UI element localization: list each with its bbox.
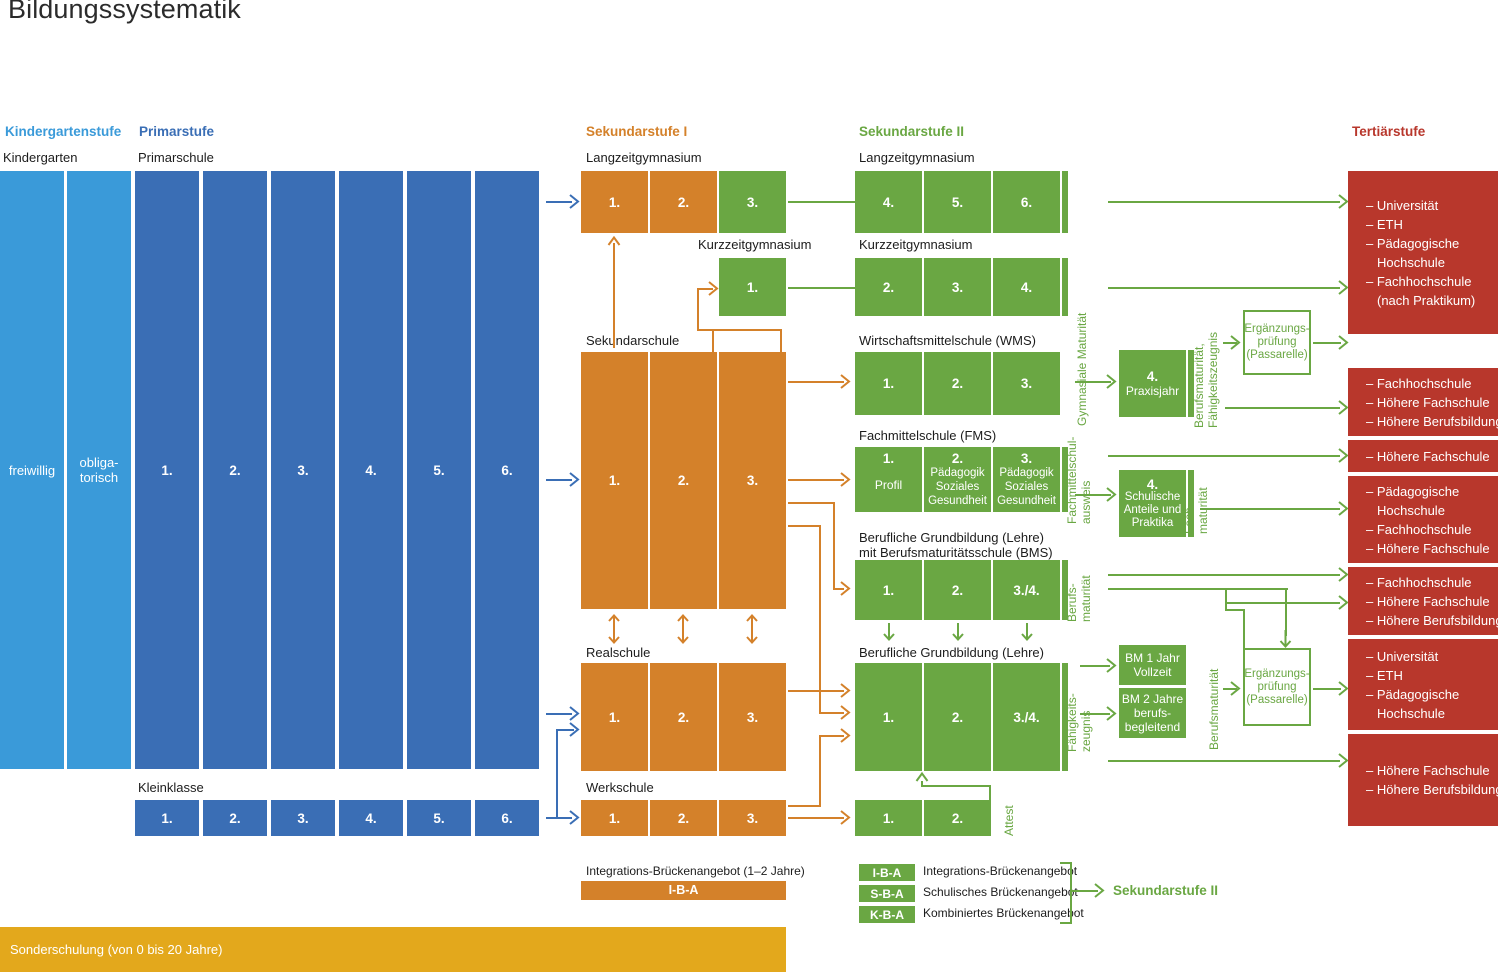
primarschule-caption: Primarschule	[138, 150, 214, 165]
sek2-fms-cell-3[interactable]: 3. Pädagogik Soziales Gesundheit	[993, 447, 1060, 512]
line-gym-to-uni-1	[1108, 201, 1340, 203]
iba-caption: Integrations-Brückenangebot (1–2 Jahre)	[586, 864, 805, 878]
cell-label: 3.	[952, 280, 963, 295]
tertiaer-block-uni-2[interactable]: – Universität – ETH – Pädagogische Hochs…	[1348, 639, 1498, 730]
arrowhead-icon	[915, 772, 929, 786]
primarschule-cell-3[interactable]: 3.	[271, 171, 335, 769]
tertiaer-block-fh-1[interactable]: – Fachhochschule – Höhere Fachschule – H…	[1348, 368, 1498, 436]
arrowhead-icon	[840, 581, 854, 596]
primarschule-cell-label: 6.	[501, 463, 512, 478]
cell-number: 4.	[1147, 478, 1158, 491]
primarschule-cell-label: 3.	[297, 463, 308, 478]
connector-sek-to-bms-h1	[788, 502, 835, 504]
cell-label: 1.	[883, 811, 894, 826]
double-arrow-icon	[676, 614, 690, 644]
sek1-werkschule-caption: Werkschule	[586, 780, 654, 795]
connector-bm-feeder-v	[1243, 610, 1245, 688]
sek2-fms-cell-2[interactable]: 2. Pädagogik Soziales Gesundheit	[924, 447, 991, 512]
tertiaer-item: – Pädagogische	[1366, 482, 1498, 501]
sek2-lehre-caption: Berufliche Grundbildung (Lehre)	[859, 645, 1044, 660]
cell-label: Praktika	[1132, 517, 1174, 530]
kindergarten-cell-label: obliga- torisch	[79, 455, 118, 485]
connector-bms-to-passarelle-v	[1285, 588, 1287, 636]
passarelle-line-3: (Passarelle)	[1244, 349, 1309, 362]
tertiaer-item: – Fachhochschule	[1366, 573, 1498, 592]
double-arrow-icon	[745, 614, 759, 644]
sek2-attest-cell-1[interactable]: 1.	[855, 800, 922, 836]
tertiaer-item: – ETH	[1366, 215, 1498, 234]
kindergarten-cell-obligatorisch[interactable]: obliga- torisch	[67, 171, 131, 769]
legend-chip-label: K-B-A	[870, 908, 904, 922]
sek1-realschule-cell-2[interactable]: 2.	[650, 663, 717, 771]
sek1-sekundarschule-cell-3[interactable]: 3.	[719, 352, 786, 609]
kleinklasse-cell-label: 5.	[433, 811, 444, 826]
sek2-fms-cell-1[interactable]: 1. Profil	[855, 447, 922, 512]
sek1-sekundarschule-caption: Sekundarschule	[586, 333, 679, 348]
cell-label: Gesundheit	[928, 494, 987, 508]
vlabel-berufsmaturitaet-a: Berufs- maturität	[1065, 575, 1093, 622]
arrowhead-icon	[1106, 706, 1120, 721]
tertiaer-block-fh-2[interactable]: – Fachhochschule – Höhere Fachschule – H…	[1348, 567, 1498, 635]
sek1-kurzzeitgym-cell-1[interactable]: 1.	[719, 258, 786, 316]
connector-sek-to-fms	[788, 479, 844, 481]
cell-label: 1.	[609, 811, 620, 826]
cell-label: Schulische	[1125, 491, 1181, 504]
praxisjahr-box[interactable]: 4. Praxisjahr	[1119, 350, 1186, 417]
arrowhead-icon	[840, 728, 854, 743]
cell-label: 2.	[678, 811, 689, 826]
line-gym-to-uni-2	[1108, 287, 1340, 289]
tertiaer-item: – Höhere Berufsbildung	[1366, 412, 1498, 431]
arrowhead-icon	[1106, 374, 1120, 389]
vlabel-berufsmaturitaet-b: Berufsmaturität	[1207, 669, 1221, 750]
connector-sek-to-bms-v	[833, 502, 835, 589]
tertiaer-item: – Höhere Berufsbildung	[1366, 611, 1498, 630]
cell-label: Pädagogik	[999, 466, 1053, 480]
sek2-lehre-cell-1[interactable]: 1.	[855, 663, 922, 771]
vlabel-fachmaturitaet: Fach- maturität	[1182, 487, 1210, 534]
cell-label: 1.	[609, 195, 620, 210]
kindergarten-cell-freiwillig[interactable]: freiwillig	[0, 171, 64, 769]
connector-werk-to-lehre-h1	[788, 805, 821, 807]
connector-kzg-up	[697, 289, 699, 330]
iba-label: I-B-A	[669, 883, 699, 898]
tertiaer-item: – Höhere Fachschule	[1366, 393, 1498, 412]
vlabel-fachmittelschulausweis: Fachmittelschul- ausweis	[1065, 437, 1093, 524]
arrowhead-icon	[882, 623, 896, 641]
stage-header-primarstufe: Primarstufe	[139, 124, 214, 139]
arrowhead-icon	[1230, 335, 1244, 350]
stage-header-tertiaerstufe: Tertiärstufe	[1352, 124, 1425, 139]
connector-werk-to-attest	[788, 817, 844, 819]
cell-label: 3.	[747, 195, 758, 210]
bm1-box[interactable]: BM 1 Jahr Vollzeit	[1119, 645, 1186, 685]
tertiaer-block-ph[interactable]: – Pädagogische Hochschule – Fachhochschu…	[1348, 476, 1498, 563]
legend-text-kba: Kombiniertes Brückenangebot	[923, 906, 1084, 920]
sek2-langzeitgym-cell-4[interactable]: 4.	[855, 171, 922, 233]
cell-label: Soziales	[1005, 480, 1048, 494]
cell-number: 4.	[1147, 369, 1158, 384]
tertiaer-item: Hochschule	[1366, 253, 1498, 272]
arrowhead-icon	[840, 374, 854, 389]
line-praxisjahr-to-fh	[1225, 407, 1340, 409]
arrowhead-icon	[1338, 335, 1352, 350]
cell-number: 3.	[1021, 451, 1032, 466]
connector-sek-to-wms	[788, 381, 844, 383]
arrowhead-icon	[1278, 630, 1293, 648]
legend-chip-sba[interactable]: S-B-A	[859, 885, 915, 902]
legend-chip-kba[interactable]: K-B-A	[859, 906, 915, 923]
arrowhead-icon	[1106, 487, 1120, 502]
passarelle-line-1: Ergänzungs-	[1244, 668, 1309, 681]
sonderschulung-bar[interactable]: Sonderschulung (von 0 bis 20 Jahre)	[0, 927, 786, 972]
tertiaer-item: – Pädagogische	[1366, 234, 1498, 253]
vlabel-attest: Attest	[1002, 805, 1016, 836]
sek1-werkschule-cell-3[interactable]: 3.	[719, 800, 786, 836]
cell-label: 1.	[883, 376, 894, 391]
kleinklasse-caption: Kleinklasse	[138, 780, 204, 795]
stage-header-sekundarstufe-1: Sekundarstufe I	[586, 124, 687, 139]
sek1-sekundarschule-cell-2[interactable]: 2.	[650, 352, 717, 609]
arrowhead-icon	[1094, 883, 1108, 898]
sek2-wms-cell-1[interactable]: 1.	[855, 352, 922, 415]
cell-number: 1.	[883, 451, 894, 466]
tertiaer-item: – Universität	[1366, 196, 1498, 215]
kleinklasse-cell-6[interactable]: 6.	[475, 800, 539, 836]
sek1-langzeitgym-cell-1[interactable]: 1.	[581, 171, 648, 233]
legend-text-iba: Integrations-Brückenangebot	[923, 864, 1077, 878]
cell-label: Profil	[875, 478, 902, 493]
legend-bracket-top	[1060, 862, 1072, 864]
sek1-langzeitgym-cell-3[interactable]: 3.	[719, 171, 786, 233]
passarelle-box-bottom[interactable]: Ergänzungs- prüfung (Passarelle)	[1243, 648, 1311, 726]
kleinklasse-cell-label: 1.	[161, 811, 172, 826]
sek2-attest-cell-2[interactable]: 2.	[924, 800, 991, 836]
connector-attest-to-lehre-h	[921, 785, 991, 787]
cell-label: 6.	[1021, 195, 1032, 210]
sek2-lehre-cell-34[interactable]: 3./4.	[993, 663, 1060, 771]
line-bms-to-fh-3	[1225, 602, 1340, 604]
vlabel-berufsmaturitaet-faehigkeitszeugnis: Berufsmaturität, Fähigkeitszeugnis	[1192, 332, 1220, 428]
legend-chip-label: I-B-A	[873, 866, 902, 880]
legend-chip-label: S-B-A	[870, 887, 903, 901]
sonderschulung-label: Sonderschulung (von 0 bis 20 Jahre)	[10, 942, 222, 957]
sek2-bms-cell-1[interactable]: 1.	[855, 560, 922, 620]
tertiaer-item: Hochschule	[1366, 501, 1498, 520]
tertiaer-item: – Höhere Berufsbildung	[1366, 780, 1498, 799]
sek2-bms-cell-34[interactable]: 3./4.	[993, 560, 1060, 620]
arrowhead-icon	[1106, 658, 1120, 673]
primarschule-cell-6[interactable]: 6.	[475, 171, 539, 769]
tertiaer-item: – Fachhochschule	[1366, 374, 1498, 393]
sek1-werkschule-cell-1[interactable]: 1.	[581, 800, 648, 836]
cell-label: Pädagogik	[930, 466, 984, 480]
tertiaer-item: – Höhere Fachschule	[1366, 447, 1498, 466]
cell-label: Praxisjahr	[1126, 384, 1179, 399]
fms4-box[interactable]: 4. Schulische Anteile und Praktika	[1119, 470, 1186, 537]
cell-label: 3.	[747, 710, 758, 725]
stub-lzg	[1062, 171, 1068, 233]
connector-sek-to-lehre-v	[819, 525, 821, 713]
stub-fms4	[1188, 470, 1194, 537]
primarschule-cell-1[interactable]: 1.	[135, 171, 199, 769]
arrowhead-icon	[840, 472, 854, 487]
tertiaer-item: – ETH	[1366, 666, 1498, 685]
cell-label: 2.	[952, 583, 963, 598]
sek2-bms-caption: Berufliche Grundbildung (Lehre) mit Beru…	[859, 530, 1053, 560]
vlabel-gymnasiale-maturitaet: Gymnasiale Maturität	[1075, 313, 1089, 426]
cell-label: 3./4.	[1013, 710, 1039, 725]
connector-bms-to-passarelle-v2	[1225, 588, 1227, 610]
kleinklasse-cell-label: 6.	[501, 811, 512, 826]
cell-label: 1.	[883, 583, 894, 598]
sek2-wms-caption: Wirtschaftsmittelschule (WMS)	[859, 333, 1036, 348]
cell-label: 4.	[1021, 280, 1032, 295]
legend-target-label: Sekundarstufe II	[1113, 883, 1218, 898]
sek2-kurzzeitgym-cell-2[interactable]: 2.	[855, 258, 922, 316]
cell-label: 2.	[678, 195, 689, 210]
passarelle-box-top[interactable]: Ergänzungs- prüfung (Passarelle)	[1243, 310, 1311, 375]
cell-label: 3.	[747, 811, 758, 826]
sek1-werkschule-cell-2[interactable]: 2.	[650, 800, 717, 836]
sek1-realschule-caption: Realschule	[586, 645, 650, 660]
kleinklasse-cell-label: 4.	[365, 811, 376, 826]
cell-label: 1.	[609, 710, 620, 725]
cell-label: 1.	[883, 710, 894, 725]
iba-box[interactable]: I-B-A	[581, 881, 786, 900]
arrowhead-icon	[607, 236, 621, 249]
sek1-realschule-cell-1[interactable]: 1.	[581, 663, 648, 771]
stage-header-sekundarstufe-2: Sekundarstufe II	[859, 124, 964, 139]
cell-label: BM 1 Jahr Vollzeit	[1125, 651, 1180, 679]
passarelle-line-1: Ergänzungs-	[1244, 323, 1309, 336]
legend-chip-iba[interactable]: I-B-A	[859, 864, 915, 881]
arrowhead-icon	[951, 623, 965, 641]
sek2-wms-cell-2[interactable]: 2.	[924, 352, 991, 415]
connector-out-passarelle-top	[1313, 342, 1341, 344]
tertiaer-block-hf-1[interactable]: – Höhere Fachschule	[1348, 440, 1498, 472]
cell-label: 2.	[952, 811, 963, 826]
arrowhead-icon	[840, 705, 854, 720]
sek2-langzeitgymnasium-caption: Langzeitgymnasium	[859, 150, 975, 165]
connector-kzg-h	[697, 329, 782, 331]
sek2-fms-caption: Fachmittelschule (FMS)	[859, 428, 996, 443]
page-title: Bildungssystematik	[8, 0, 241, 25]
tertiaer-item: – Universität	[1366, 647, 1498, 666]
legend-bracket-v	[1070, 862, 1072, 924]
sek2-kurzzeitgymnasium-caption: Kurzzeitgymnasium	[859, 237, 972, 252]
cell-label: 5.	[952, 195, 963, 210]
bm2-box[interactable]: BM 2 Jahre berufs- begleitend	[1119, 688, 1186, 738]
tertiaer-item: – Höhere Fachschule	[1366, 592, 1498, 611]
cell-label: 3.	[1021, 376, 1032, 391]
kleinklasse-cell-label: 3.	[297, 811, 308, 826]
sek2-bms-cell-2[interactable]: 2.	[924, 560, 991, 620]
kindergarten-caption: Kindergarten	[3, 150, 77, 165]
cell-label: 1.	[609, 473, 620, 488]
legend-text-sba: Schulisches Brückenangebot	[923, 885, 1078, 899]
arrowhead-icon	[1020, 623, 1034, 641]
stub-bms	[1062, 560, 1068, 620]
sek2-lehre-cell-2[interactable]: 2.	[924, 663, 991, 771]
tertiaer-item: – Fachhochschule	[1366, 520, 1498, 539]
cell-label: Anteile und	[1124, 504, 1182, 517]
line-fachmat-to-ph	[1200, 508, 1340, 510]
connector-kzg1-to-kzg2	[788, 287, 856, 289]
primarschule-cell-4[interactable]: 4.	[339, 171, 403, 769]
connector-werk-to-lehre-v	[819, 736, 821, 806]
cell-label: 1.	[747, 280, 758, 295]
line-fms-to-hf	[1108, 455, 1340, 457]
kindergarten-cell-label: freiwillig	[9, 463, 55, 478]
sek2-wms-cell-3[interactable]: 3.	[993, 352, 1060, 415]
connector-kzg-v1	[712, 330, 714, 352]
legend-bracket-bottom	[1060, 922, 1072, 924]
tertiaer-item: – Höhere Fachschule	[1366, 539, 1498, 558]
arrowhead-icon	[1230, 681, 1244, 696]
cell-label: 3./4.	[1013, 583, 1039, 598]
connector-sek-to-langzeitgym	[613, 243, 615, 348]
cell-label: 2.	[678, 473, 689, 488]
cell-label: 2.	[952, 376, 963, 391]
tertiaer-block-uni-1[interactable]: – Universität – ETH – Pädagogische Hochs…	[1348, 171, 1498, 334]
line-bms-to-fh-1	[1108, 574, 1340, 576]
cell-label: 2.	[678, 710, 689, 725]
kleinklasse-cell-4[interactable]: 4.	[339, 800, 403, 836]
sek1-langzeitgym-cell-2[interactable]: 2.	[650, 171, 717, 233]
sek1-langzeitgymnasium-caption: Langzeitgymnasium	[586, 150, 702, 165]
tertiaer-block-hf-2[interactable]: – Höhere Fachschule – Höhere Berufsbildu…	[1348, 734, 1498, 826]
double-arrow-icon	[607, 614, 621, 644]
sek2-kurzzeitgym-cell-4[interactable]: 4.	[993, 258, 1060, 316]
sek2-langzeitgym-cell-6[interactable]: 6.	[993, 171, 1060, 233]
primarschule-cell-label: 4.	[365, 463, 376, 478]
line-lehre-to-hf	[1108, 760, 1340, 762]
cell-label: 2.	[883, 280, 894, 295]
stub-lehre	[1062, 663, 1068, 771]
primarschule-cell-label: 5.	[433, 463, 444, 478]
cell-number: 2.	[952, 451, 963, 466]
tertiaer-item: – Höhere Fachschule	[1366, 761, 1498, 780]
sek1-realschule-cell-3[interactable]: 3.	[719, 663, 786, 771]
kleinklasse-cell-label: 2.	[229, 811, 240, 826]
primarschule-cell-2[interactable]: 2.	[203, 171, 267, 769]
line-bms-to-fh-2	[1108, 588, 1288, 590]
connector-primar-down	[556, 769, 558, 819]
cell-label: 4.	[883, 195, 894, 210]
sek2-kurzzeitgym-cell-3[interactable]: 3.	[924, 258, 991, 316]
connector-sek-to-lehre-h1	[788, 525, 821, 527]
sek2-langzeitgym-cell-5[interactable]: 5.	[924, 171, 991, 233]
kleinklasse-cell-3[interactable]: 3.	[271, 800, 335, 836]
sek1-sekundarschule-cell-1[interactable]: 1.	[581, 352, 648, 609]
stub-fms	[1062, 447, 1068, 512]
connector-out-passarelle-bottom	[1313, 688, 1341, 690]
primarschule-cell-5[interactable]: 5.	[407, 171, 471, 769]
passarelle-line-3: (Passarelle)	[1244, 694, 1309, 707]
tertiaer-item: Hochschule	[1366, 704, 1498, 723]
stage-header-kindergartenstufe: Kindergartenstufe	[5, 124, 121, 139]
stub-praxisjahr	[1188, 350, 1194, 417]
passarelle-line-2: prüfung	[1244, 681, 1309, 694]
cell-label: 3.	[747, 473, 758, 488]
sek1-kurzzeitgymnasium-caption: Kurzzeitgymnasium	[698, 237, 811, 252]
passarelle-line-2: prüfung	[1244, 336, 1309, 349]
connector-real-to-lehre	[788, 690, 844, 692]
connector-kzg-v2	[780, 330, 782, 352]
kleinklasse-cell-1[interactable]: 1.	[135, 800, 199, 836]
tertiaer-item: (nach Praktikum)	[1366, 291, 1498, 310]
cell-label: BM 2 Jahre berufs- begleitend	[1122, 692, 1183, 734]
tertiaer-item: – Pädagogische	[1366, 685, 1498, 704]
cell-label: Soziales	[936, 480, 979, 494]
kleinklasse-cell-2[interactable]: 2.	[203, 800, 267, 836]
kleinklasse-cell-5[interactable]: 5.	[407, 800, 471, 836]
connector-bm-feeder-h	[1225, 609, 1245, 611]
arrowhead-icon	[840, 810, 854, 825]
connector-attest-to-lehre-v1	[989, 785, 991, 800]
connector-lzg1-to-lzg2	[788, 201, 856, 203]
vlabel-faehigkeitszeugnis: Fähigkeits- zeugnis	[1065, 693, 1093, 752]
arrowhead-icon	[708, 281, 721, 296]
cell-label: 2.	[952, 710, 963, 725]
arrowhead-icon	[840, 683, 854, 698]
cell-label: Gesundheit	[997, 494, 1056, 508]
primarschule-cell-label: 2.	[229, 463, 240, 478]
stub-kzg	[1062, 258, 1068, 316]
tertiaer-item: – Fachhochschule	[1366, 272, 1498, 291]
primarschule-cell-label: 1.	[161, 463, 172, 478]
